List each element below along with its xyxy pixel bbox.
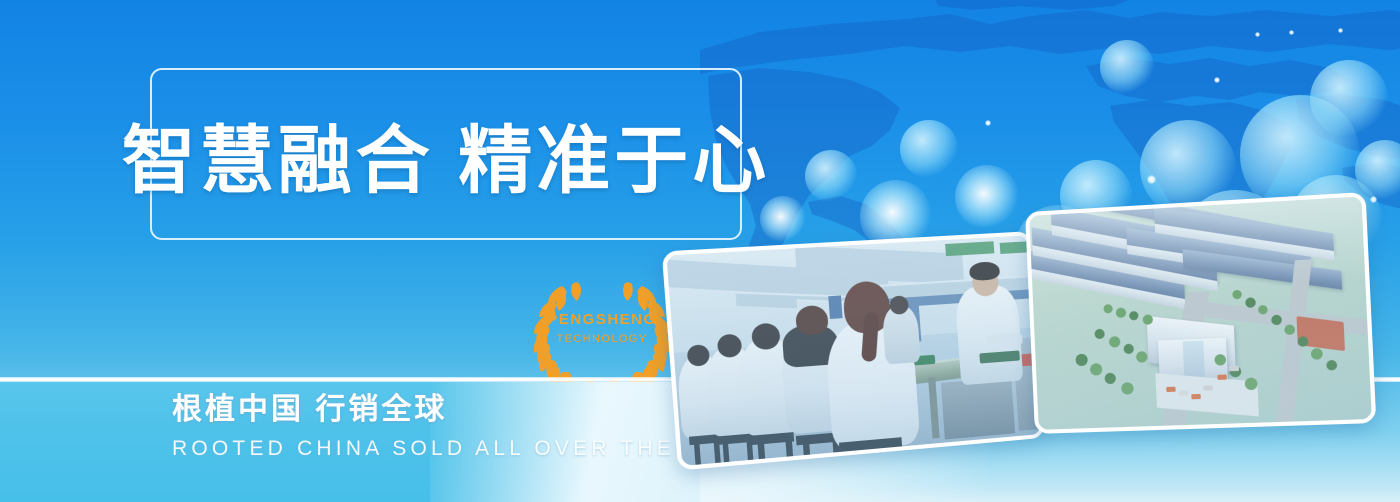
factory-production-line-photo [662, 231, 1046, 470]
laurel-wreath-icon: PENGSHENG TECHNOLOGY [528, 270, 676, 386]
emblem-text: PENGSHENG TECHNOLOGY [528, 270, 676, 386]
factory-aerial-campus-photo [1025, 192, 1376, 434]
emblem-brand-subtitle: TECHNOLOGY [556, 334, 647, 345]
emblem-brand-name: PENGSHENG [547, 312, 656, 327]
promotional-banner: 智慧融合 精准于心 [0, 0, 1400, 502]
page-title: 智慧融合 精准于心 [152, 70, 740, 238]
headline-box: 智慧融合 精准于心 [150, 68, 742, 240]
